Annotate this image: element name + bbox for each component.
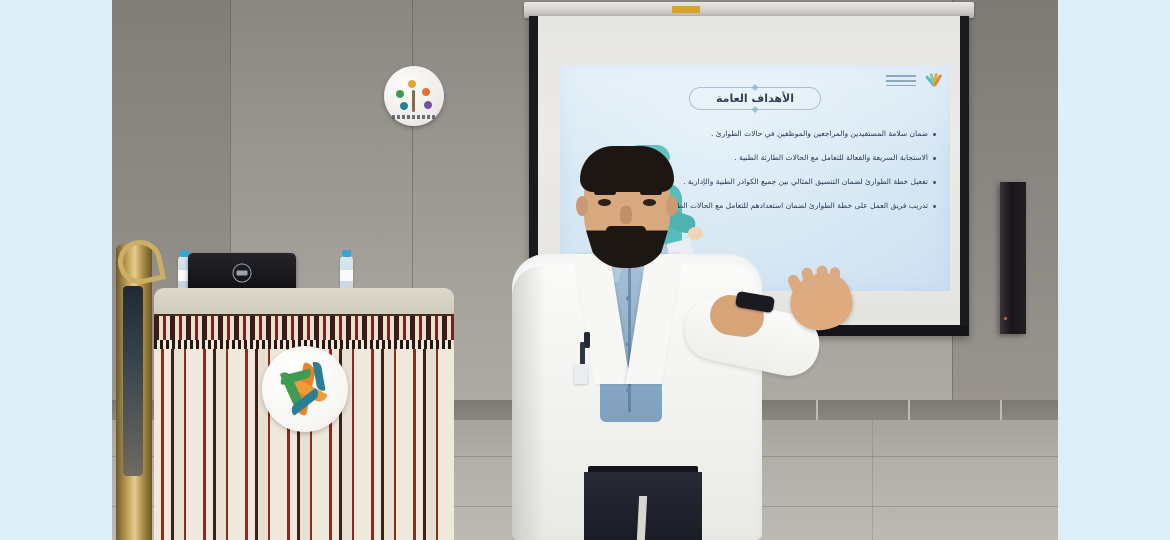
presenter-mustache — [606, 226, 646, 235]
presenter-eye — [598, 199, 611, 206]
bottle-label — [340, 270, 353, 281]
screenshot-root: الأهداف العامة ضمان سلامة المستفيدين وال… — [0, 0, 1170, 540]
dell-logo-icon — [233, 264, 252, 283]
slide-bullet: ضمان سلامة المستفيدين والمراجعين والموظف… — [574, 129, 936, 138]
presenter-ear — [666, 196, 678, 216]
presenter-eyebrow — [640, 190, 662, 195]
bottle-cap — [342, 250, 351, 257]
presenter-eyebrow — [594, 190, 616, 195]
letterbox-left — [0, 0, 112, 540]
slide-title: الأهداف العامة — [716, 92, 794, 105]
presenter-eye — [643, 199, 656, 206]
shirt-button — [626, 342, 631, 347]
dell-laptop — [188, 253, 296, 293]
presenter-hair — [580, 146, 674, 192]
coat-shading — [512, 266, 546, 540]
gold-ornate-chair — [112, 244, 158, 540]
bullet-dot-icon — [933, 205, 936, 208]
screen-border-right — [960, 16, 969, 336]
screen-case-label — [672, 6, 700, 13]
bullet-dot-icon — [933, 181, 936, 184]
organization-starburst-logo — [880, 71, 942, 93]
shirt-button — [626, 296, 631, 301]
presenter-person — [488, 146, 788, 540]
bullet-dot-icon — [933, 157, 936, 160]
wall-circular-emblem — [384, 66, 444, 126]
presenter-nose — [620, 206, 632, 224]
lectern-with-sadu-cloth — [154, 288, 454, 540]
podium-starburst-logo — [262, 346, 348, 432]
letterbox-right — [1058, 0, 1170, 540]
emblem-caption — [392, 115, 436, 119]
slide-title-box: الأهداف العامة — [689, 87, 821, 110]
photograph: الأهداف العامة ضمان سلامة المستفيدين وال… — [112, 0, 1058, 540]
shirt-button — [626, 388, 631, 393]
id-badge — [574, 364, 588, 384]
presenter-ear — [576, 196, 588, 216]
wall-mounted-tv — [1000, 182, 1026, 334]
tv-power-led-icon — [1004, 317, 1007, 320]
bullet-dot-icon — [933, 133, 936, 136]
